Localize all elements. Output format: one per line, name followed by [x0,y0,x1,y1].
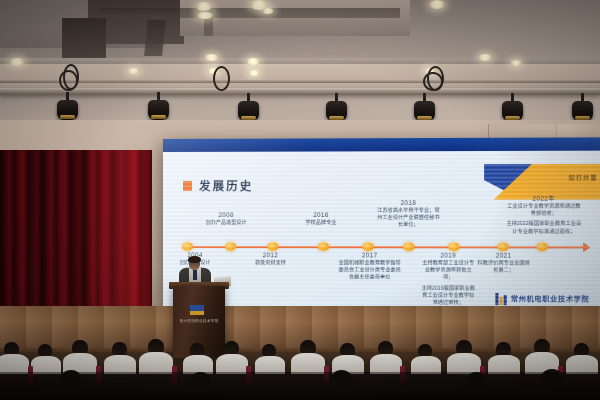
timeline-milestone: 2012 获批央财支持 [239,252,302,270]
milestone-year: 2008 [185,212,267,219]
timeline-milestone: 2022年 工业设计专业教学资源库通过教育部验收； 主持2022版国家职业教育工… [506,193,582,239]
timeline-node [363,242,374,251]
stage-light [326,93,347,121]
timeline-milestone: 2016 学校品牌专业 [290,212,353,230]
logo-mark-icon [495,293,506,305]
timeline-node [537,242,548,251]
ceiling-downlight [204,54,219,61]
timeline-milestone: 2018 江苏省高水平骨干专业；常州工业设计产业联盟任秘书长单位； [377,200,440,233]
milestone-desc: 主持教育部工业设计专业教学资源库获批立项； [420,260,477,282]
audience-shoulders [216,354,248,374]
slide-title: 发展历史 [199,178,253,194]
timeline-node [403,242,414,251]
timeline-node [225,242,236,251]
milestone-desc-2: 主持2019版国家职业教育工业设计专业教学标准通过审核； [420,285,477,307]
lecture-hall-photo: 知行并重 发展历史 2004 创办工业设计 （双专科） [0,0,600,400]
timeline-milestone: 2021 科教评价网专业全国排名第二； [475,252,533,278]
slide-title-row: 发展历史 [183,178,253,194]
stage-light [572,93,593,121]
ceiling-downlight [510,60,522,66]
bullet-square-icon [183,181,192,191]
milestone-year: 2019 [420,252,477,259]
truss-cable [59,70,78,91]
timeline-node [318,242,329,251]
ceiling-downlight [262,8,274,14]
milestone-desc: 创办产品造型设计 [185,220,267,227]
milestone-desc: 全国机械职业教育教学指导委员会工业设计类专业委员会副主任委员单位 [338,260,401,282]
milestone-year: 2012 [239,252,302,259]
audience-shoulders [0,354,29,374]
speaker-hair [188,256,201,263]
truss-rod [0,80,600,83]
milestone-desc: 科教评价网专业全国排名第二； [475,260,533,275]
timeline-milestone: 2017 全国机械职业教育教学指导委员会工业设计类专业委员会副主任委员单位 [338,252,401,285]
milestone-year: 2021 [475,252,533,259]
audience-shoulders [139,352,173,374]
timeline-axis [184,246,585,248]
stage-light [238,93,259,121]
ceiling-downlight [9,58,25,66]
audience-shoulders [370,354,402,374]
milestone-desc: 工业设计专业教学资源库通过教育部验收； [506,204,582,219]
audience-shoulders [447,353,481,374]
audience-shoulders [291,353,325,374]
timeline-node [448,242,459,251]
ceiling-downlight [478,54,492,61]
stage-light [57,92,78,120]
corner-banner-text: 知行并重 [569,173,598,182]
slide-corner-banner: 知行并重 [484,164,600,200]
timeline-node [182,242,193,251]
ceiling-downlight [248,70,260,76]
milestone-desc: 获批央财支持 [239,260,302,267]
milestone-year: 2017 [338,252,401,259]
timeline-arrow-icon [583,242,590,252]
ceiling-downlight [196,12,214,19]
timeline-node [267,242,278,251]
milestone-year: 2018 [377,200,440,207]
timeline-node [497,242,508,251]
ceiling-downlight [246,58,260,65]
stage-light [414,93,435,121]
foreground-shadow [0,372,600,400]
stage-light [502,93,523,121]
stage-light [148,92,169,120]
milestone-desc: 学校品牌专业 [290,220,353,227]
truss-cable [423,72,443,91]
ceiling-downlight [429,0,445,9]
podium-emblem-icon [190,305,204,315]
milestone-desc: 江苏省高水平骨干专业；常州工业设计产业联盟任秘书长单位； [377,208,440,230]
logo-text: 常州机电职业技术学院 [511,294,589,304]
milestone-year: 2016 [290,212,353,219]
truss-cable [213,66,230,91]
institution-logo: 常州机电职业技术学院 [495,293,589,305]
timeline-milestone: 2008 创办产品造型设计 [185,212,267,230]
milestone-desc-2: 主持2022版国家职业教育工业设计专业教学标准通过验收； [506,221,582,236]
ceiling-downlight [127,68,140,74]
ceiling-downlight [196,2,212,11]
slide-header-bar [163,137,600,152]
podium-nameplate: 常州机电职业技术学院 [179,319,219,324]
milestone-year: 2022年 [506,193,582,202]
speaker-lanyard [193,270,197,280]
timeline-milestone: 2019 主持教育部工业设计专业教学资源库获批立项； 主持2019版国家职业教育… [420,252,477,310]
